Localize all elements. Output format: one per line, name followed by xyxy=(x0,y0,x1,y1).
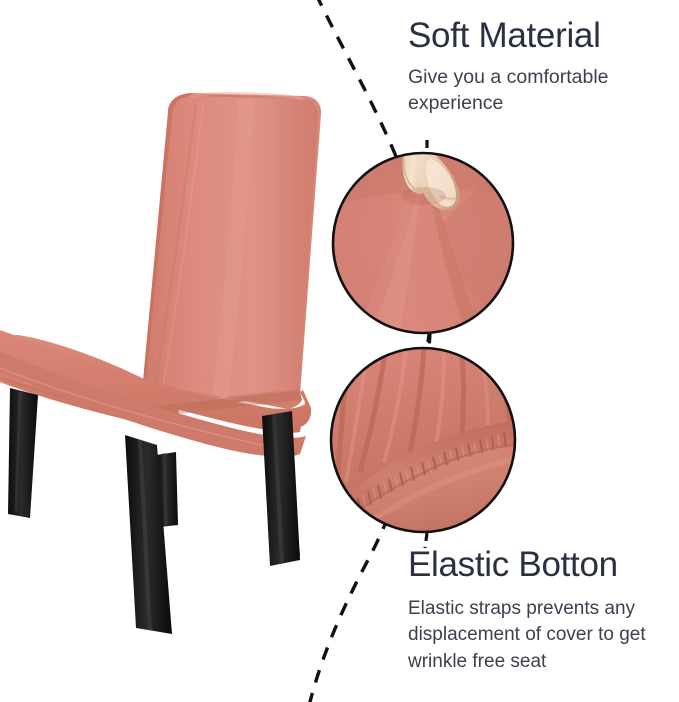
elastic-botton-subtext: Elastic straps prevents any displacement… xyxy=(408,596,676,675)
feature-block-elastic-botton: Elastic Botton Elastic straps prevents a… xyxy=(408,545,676,675)
soft-material-subtext: Give you a comfortable experience xyxy=(408,64,670,116)
elastic-botton-heading: Elastic Botton xyxy=(408,545,676,584)
fabric-pinch-icon xyxy=(333,144,513,333)
feature-block-soft-material: Soft Material Give you a comfortable exp… xyxy=(408,16,670,116)
soft-material-heading: Soft Material xyxy=(408,16,670,55)
elastic-hem-icon xyxy=(331,348,516,560)
chair-leg-front-left xyxy=(8,388,38,518)
dining-chair-product xyxy=(0,93,321,634)
chair-back xyxy=(140,93,321,413)
product-infographic: Soft Material Give you a comfortable exp… xyxy=(0,0,679,702)
